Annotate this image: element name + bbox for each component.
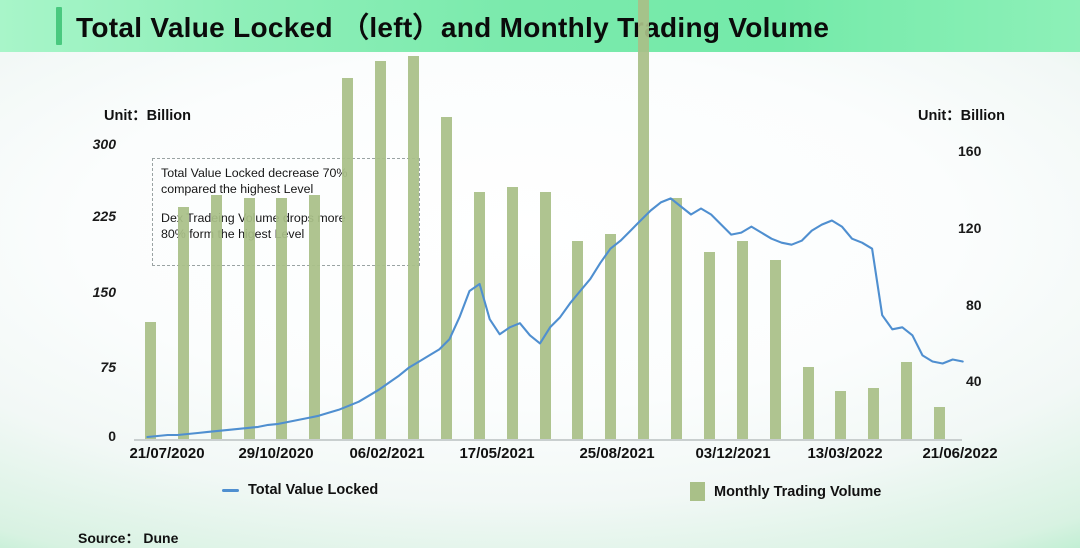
legend-item-monthly-trading-volume: Monthly Trading Volume xyxy=(690,482,881,501)
right-axis-tick-120: 120 xyxy=(958,220,1008,236)
x-tick-label-6: 13/03/2022 xyxy=(807,445,882,462)
page-title: Total Value Locked （left）and Monthly Tra… xyxy=(76,6,829,46)
chart-page: Total Value Locked （left）and Monthly Tra… xyxy=(0,0,1080,548)
x-tick-label-2: 06/02/2021 xyxy=(349,445,424,462)
legend-bar-swatch-icon xyxy=(690,482,705,501)
title-banner: Total Value Locked （left）and Monthly Tra… xyxy=(0,0,1080,52)
left-axis-tick-150: 150 xyxy=(72,284,116,300)
legend-item-total-value-locked: Total Value Locked xyxy=(222,482,378,498)
x-tick-label-7: 21/06/2022 xyxy=(922,445,997,462)
line-series-total-value-locked xyxy=(134,138,956,440)
right-axis-unit-label: Unit：Billion xyxy=(918,104,1005,125)
x-tick-label-5: 03/12/2021 xyxy=(695,445,770,462)
x-tick-label-0: 21/07/2020 xyxy=(129,445,204,462)
left-axis-unit-label: Unit：Billion xyxy=(104,104,191,125)
legend-label-monthly-trading-volume: Monthly Trading Volume xyxy=(714,484,881,500)
source-caption: Source： Dune xyxy=(78,528,178,548)
right-axis-tick-80: 80 xyxy=(966,297,1016,313)
x-tick-label-3: 17/05/2021 xyxy=(459,445,534,462)
left-axis-tick-0: 0 xyxy=(72,428,116,444)
legend-label-total-value-locked: Total Value Locked xyxy=(248,482,378,498)
right-axis-tick-40: 40 xyxy=(966,373,1016,389)
x-tick-label-4: 25/08/2021 xyxy=(579,445,654,462)
plot-area xyxy=(134,138,956,440)
right-axis-tick-160: 160 xyxy=(958,143,1008,159)
x-axis-baseline xyxy=(134,439,962,441)
title-accent-bar xyxy=(56,7,62,45)
left-axis-tick-75: 75 xyxy=(72,359,116,375)
left-axis-tick-225: 225 xyxy=(72,208,116,224)
legend-line-swatch-icon xyxy=(222,489,239,492)
x-tick-label-1: 29/10/2020 xyxy=(238,445,313,462)
left-axis-tick-300: 300 xyxy=(72,136,116,152)
